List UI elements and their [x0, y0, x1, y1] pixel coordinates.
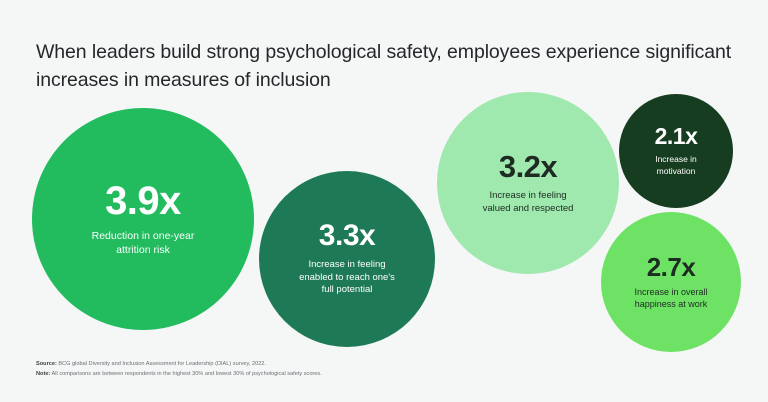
- bubble-attrition-risk: 3.9x Reduction in one-year attrition ris…: [32, 108, 254, 330]
- bubble-caption: Increase in feeling enabled to reach one…: [299, 259, 395, 297]
- footnote-source-text: BCG global Diversity and Inclusion Asses…: [57, 361, 266, 367]
- bubble-caption-line: motivation: [655, 166, 697, 177]
- bubble-caption-line: enabled to reach one's: [299, 272, 395, 285]
- bubble-valued-respected: 3.2x Increase in feeling valued and resp…: [437, 92, 619, 274]
- footnote-note-label: Note:: [36, 371, 50, 377]
- footnotes: Source: BCG global Diversity and Inclusi…: [36, 360, 736, 380]
- footnote-source-label: Source:: [36, 361, 57, 367]
- bubble-stat-value: 2.7x: [647, 254, 696, 280]
- bubble-caption-line: Reduction in one-year: [92, 230, 195, 244]
- bubble-stat-value: 3.2x: [499, 151, 557, 182]
- bubble-stat-value: 3.9x: [105, 181, 181, 221]
- footnote-source: Source: BCG global Diversity and Inclusi…: [36, 360, 736, 370]
- bubble-motivation: 2.1x Increase in motivation: [619, 94, 733, 208]
- footnote-note: Note: All comparisons are between respon…: [36, 370, 736, 380]
- footnote-note-text: All comparisons are between respondents …: [50, 371, 321, 377]
- bubble-caption: Reduction in one-year attrition risk: [92, 230, 195, 258]
- bubble-caption-line: Increase in overall: [634, 287, 707, 299]
- bubble-caption: Increase in feeling valued and respected: [483, 190, 574, 215]
- bubble-caption-line: Increase in feeling: [483, 190, 574, 203]
- bubble-caption-line: attrition risk: [92, 244, 195, 258]
- infographic-canvas: When leaders build strong psychological …: [0, 0, 768, 402]
- bubble-stat-value: 3.3x: [319, 221, 375, 251]
- bubble-happiness-at-work: 2.7x Increase in overall happiness at wo…: [601, 212, 741, 352]
- bubble-caption-line: Increase in feeling: [299, 259, 395, 272]
- bubble-stat-value: 2.1x: [655, 125, 698, 148]
- bubble-caption-line: valued and respected: [483, 203, 574, 216]
- bubble-caption-line: full potential: [299, 284, 395, 297]
- bubble-caption: Increase in motivation: [655, 154, 697, 177]
- bubble-caption-line: Increase in: [655, 154, 697, 165]
- bubble-caption-line: happiness at work: [634, 299, 707, 311]
- bubble-caption: Increase in overall happiness at work: [634, 287, 707, 311]
- bubble-chart: 3.9x Reduction in one-year attrition ris…: [0, 0, 768, 350]
- bubble-full-potential: 3.3x Increase in feeling enabled to reac…: [259, 171, 435, 347]
